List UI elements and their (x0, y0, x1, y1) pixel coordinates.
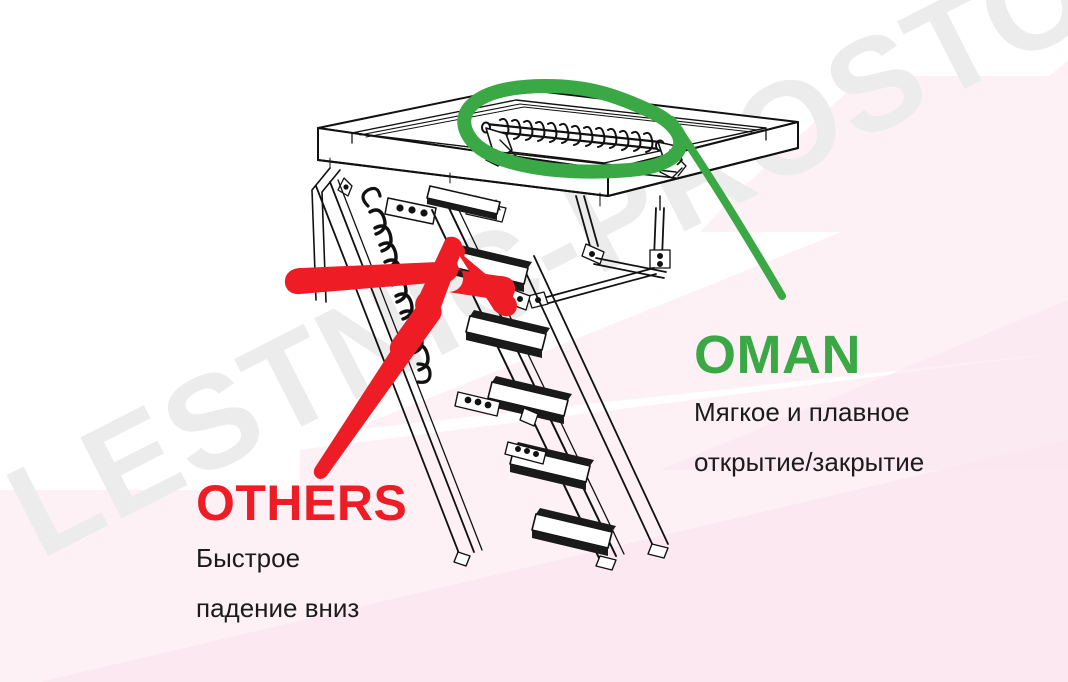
green-pointer-line (672, 120, 782, 296)
oman-caption-line-2: открытие/закрытие (694, 444, 924, 482)
others-caption-line-2: падение вниз (196, 590, 407, 628)
others-annotation: OTHERS Быстрое падение вниз (196, 478, 407, 627)
oman-heading: OMAN (694, 328, 924, 382)
oman-annotation: OMAN Мягкое и плавное открытие/закрытие (694, 328, 924, 481)
others-heading: OTHERS (196, 478, 407, 528)
promo-banner: LESTNIC-PROSTO.RU (0, 0, 1068, 682)
oman-caption-line-1: Мягкое и плавное (694, 394, 924, 432)
others-caption-line-1: Быстрое (196, 540, 407, 578)
red-arrow (285, 237, 517, 479)
